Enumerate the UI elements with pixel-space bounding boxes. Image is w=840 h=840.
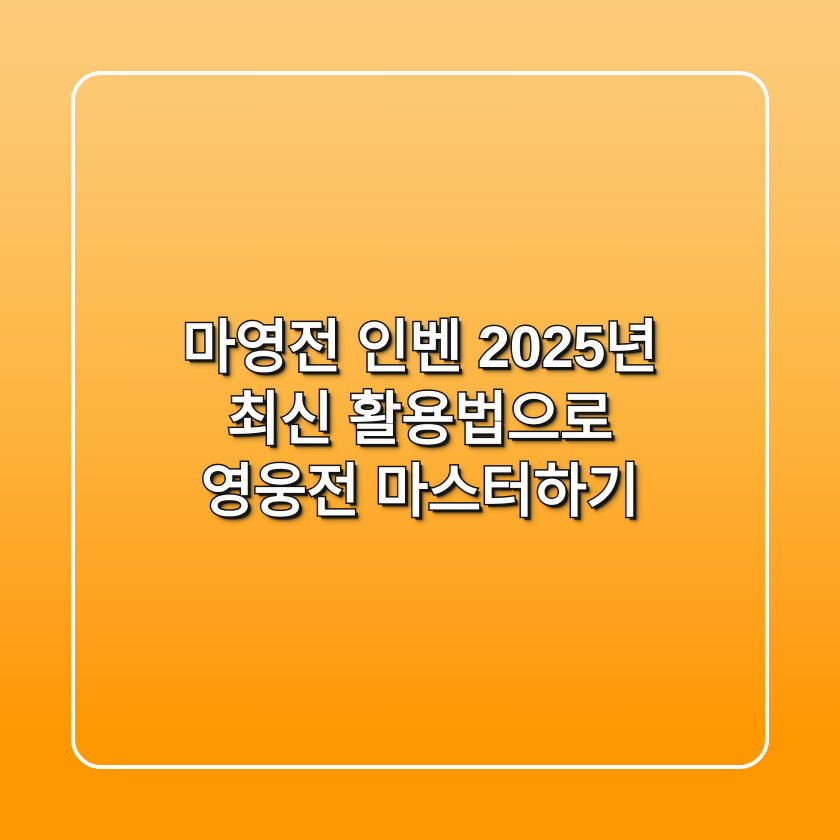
headline-block: 마영전 인벤 2025년 최신 활용법으로 영웅전 마스터하기	[0, 0, 840, 840]
headline-line-2: 최신 활용법으로	[86, 384, 754, 456]
headline-line-3: 영웅전 마스터하기	[86, 456, 754, 528]
poster-canvas: 마영전 인벤 2025년 최신 활용법으로 영웅전 마스터하기	[0, 0, 840, 840]
headline-line-1: 마영전 인벤 2025년	[86, 312, 754, 384]
